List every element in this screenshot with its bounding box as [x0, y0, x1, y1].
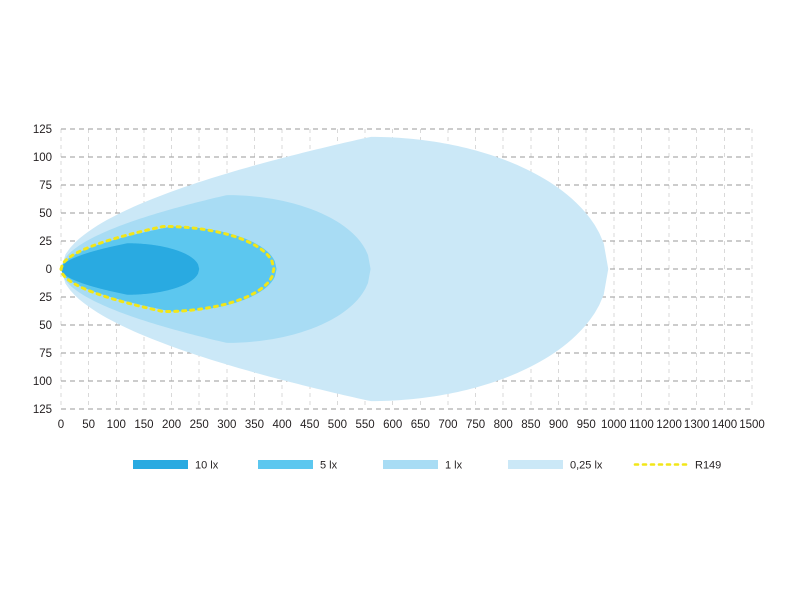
y-tick-label: 100	[33, 152, 52, 164]
x-tick-label: 300	[217, 419, 236, 431]
y-tick-label: 125	[33, 124, 52, 136]
legend-item[interactable]: 10 lx	[133, 459, 219, 471]
y-tick-label: 75	[39, 348, 52, 360]
legend-swatch	[133, 460, 188, 469]
beam-pattern-plot: 1251007550250255075100125 05010015020025…	[0, 0, 800, 600]
x-tick-label: 1300	[684, 419, 710, 431]
x-tick-label: 1000	[601, 419, 627, 431]
legend-item[interactable]: 5 lx	[258, 459, 338, 471]
y-tick-label: 0	[46, 264, 52, 276]
x-tick-label: 50	[82, 419, 95, 431]
x-tick-label: 850	[521, 419, 540, 431]
legend-item[interactable]: 0,25 lx	[508, 459, 603, 471]
y-axis-tick-labels: 1251007550250255075100125	[33, 124, 52, 416]
x-tick-label: 800	[494, 419, 513, 431]
x-tick-label: 1500	[739, 419, 765, 431]
x-tick-label: 350	[245, 419, 264, 431]
x-tick-label: 600	[383, 419, 402, 431]
x-tick-label: 750	[466, 419, 485, 431]
legend-swatch	[508, 460, 563, 469]
x-tick-label: 0	[58, 419, 64, 431]
legend-label: 1 lx	[445, 459, 463, 471]
legend-swatch	[383, 460, 438, 469]
light-distribution-chart: 1251007550250255075100125 05010015020025…	[0, 0, 800, 600]
legend-label: 5 lx	[320, 459, 338, 471]
chart-legend: 10 lx5 lx1 lx0,25 lxR149	[133, 459, 721, 471]
y-tick-label: 50	[39, 320, 52, 332]
x-tick-label: 200	[162, 419, 181, 431]
x-tick-label: 1100	[629, 419, 654, 431]
x-tick-label: 1400	[712, 419, 738, 431]
x-tick-label: 100	[107, 419, 126, 431]
x-tick-label: 650	[411, 419, 430, 431]
x-tick-label: 950	[577, 419, 596, 431]
y-tick-label: 50	[39, 208, 52, 220]
y-tick-label: 125	[33, 404, 52, 416]
y-tick-label: 25	[39, 292, 52, 304]
x-tick-label: 900	[549, 419, 568, 431]
y-tick-label: 75	[39, 180, 52, 192]
x-tick-label: 550	[355, 419, 374, 431]
x-tick-label: 500	[328, 419, 347, 431]
legend-swatch	[258, 460, 313, 469]
x-tick-label: 150	[134, 419, 153, 431]
x-tick-label: 400	[273, 419, 292, 431]
x-axis-tick-labels: 0501001502002503003504004505005506006507…	[58, 419, 765, 431]
legend-label: R149	[695, 459, 721, 471]
y-tick-label: 25	[39, 236, 52, 248]
legend-item[interactable]: 1 lx	[383, 459, 463, 471]
y-tick-label: 100	[33, 376, 52, 388]
legend-label: 10 lx	[195, 459, 219, 471]
x-tick-label: 450	[300, 419, 319, 431]
legend-label: 0,25 lx	[570, 459, 603, 471]
legend-item[interactable]: R149	[635, 459, 721, 471]
x-tick-label: 1200	[656, 419, 682, 431]
x-tick-label: 700	[438, 419, 457, 431]
x-tick-label: 250	[190, 419, 209, 431]
